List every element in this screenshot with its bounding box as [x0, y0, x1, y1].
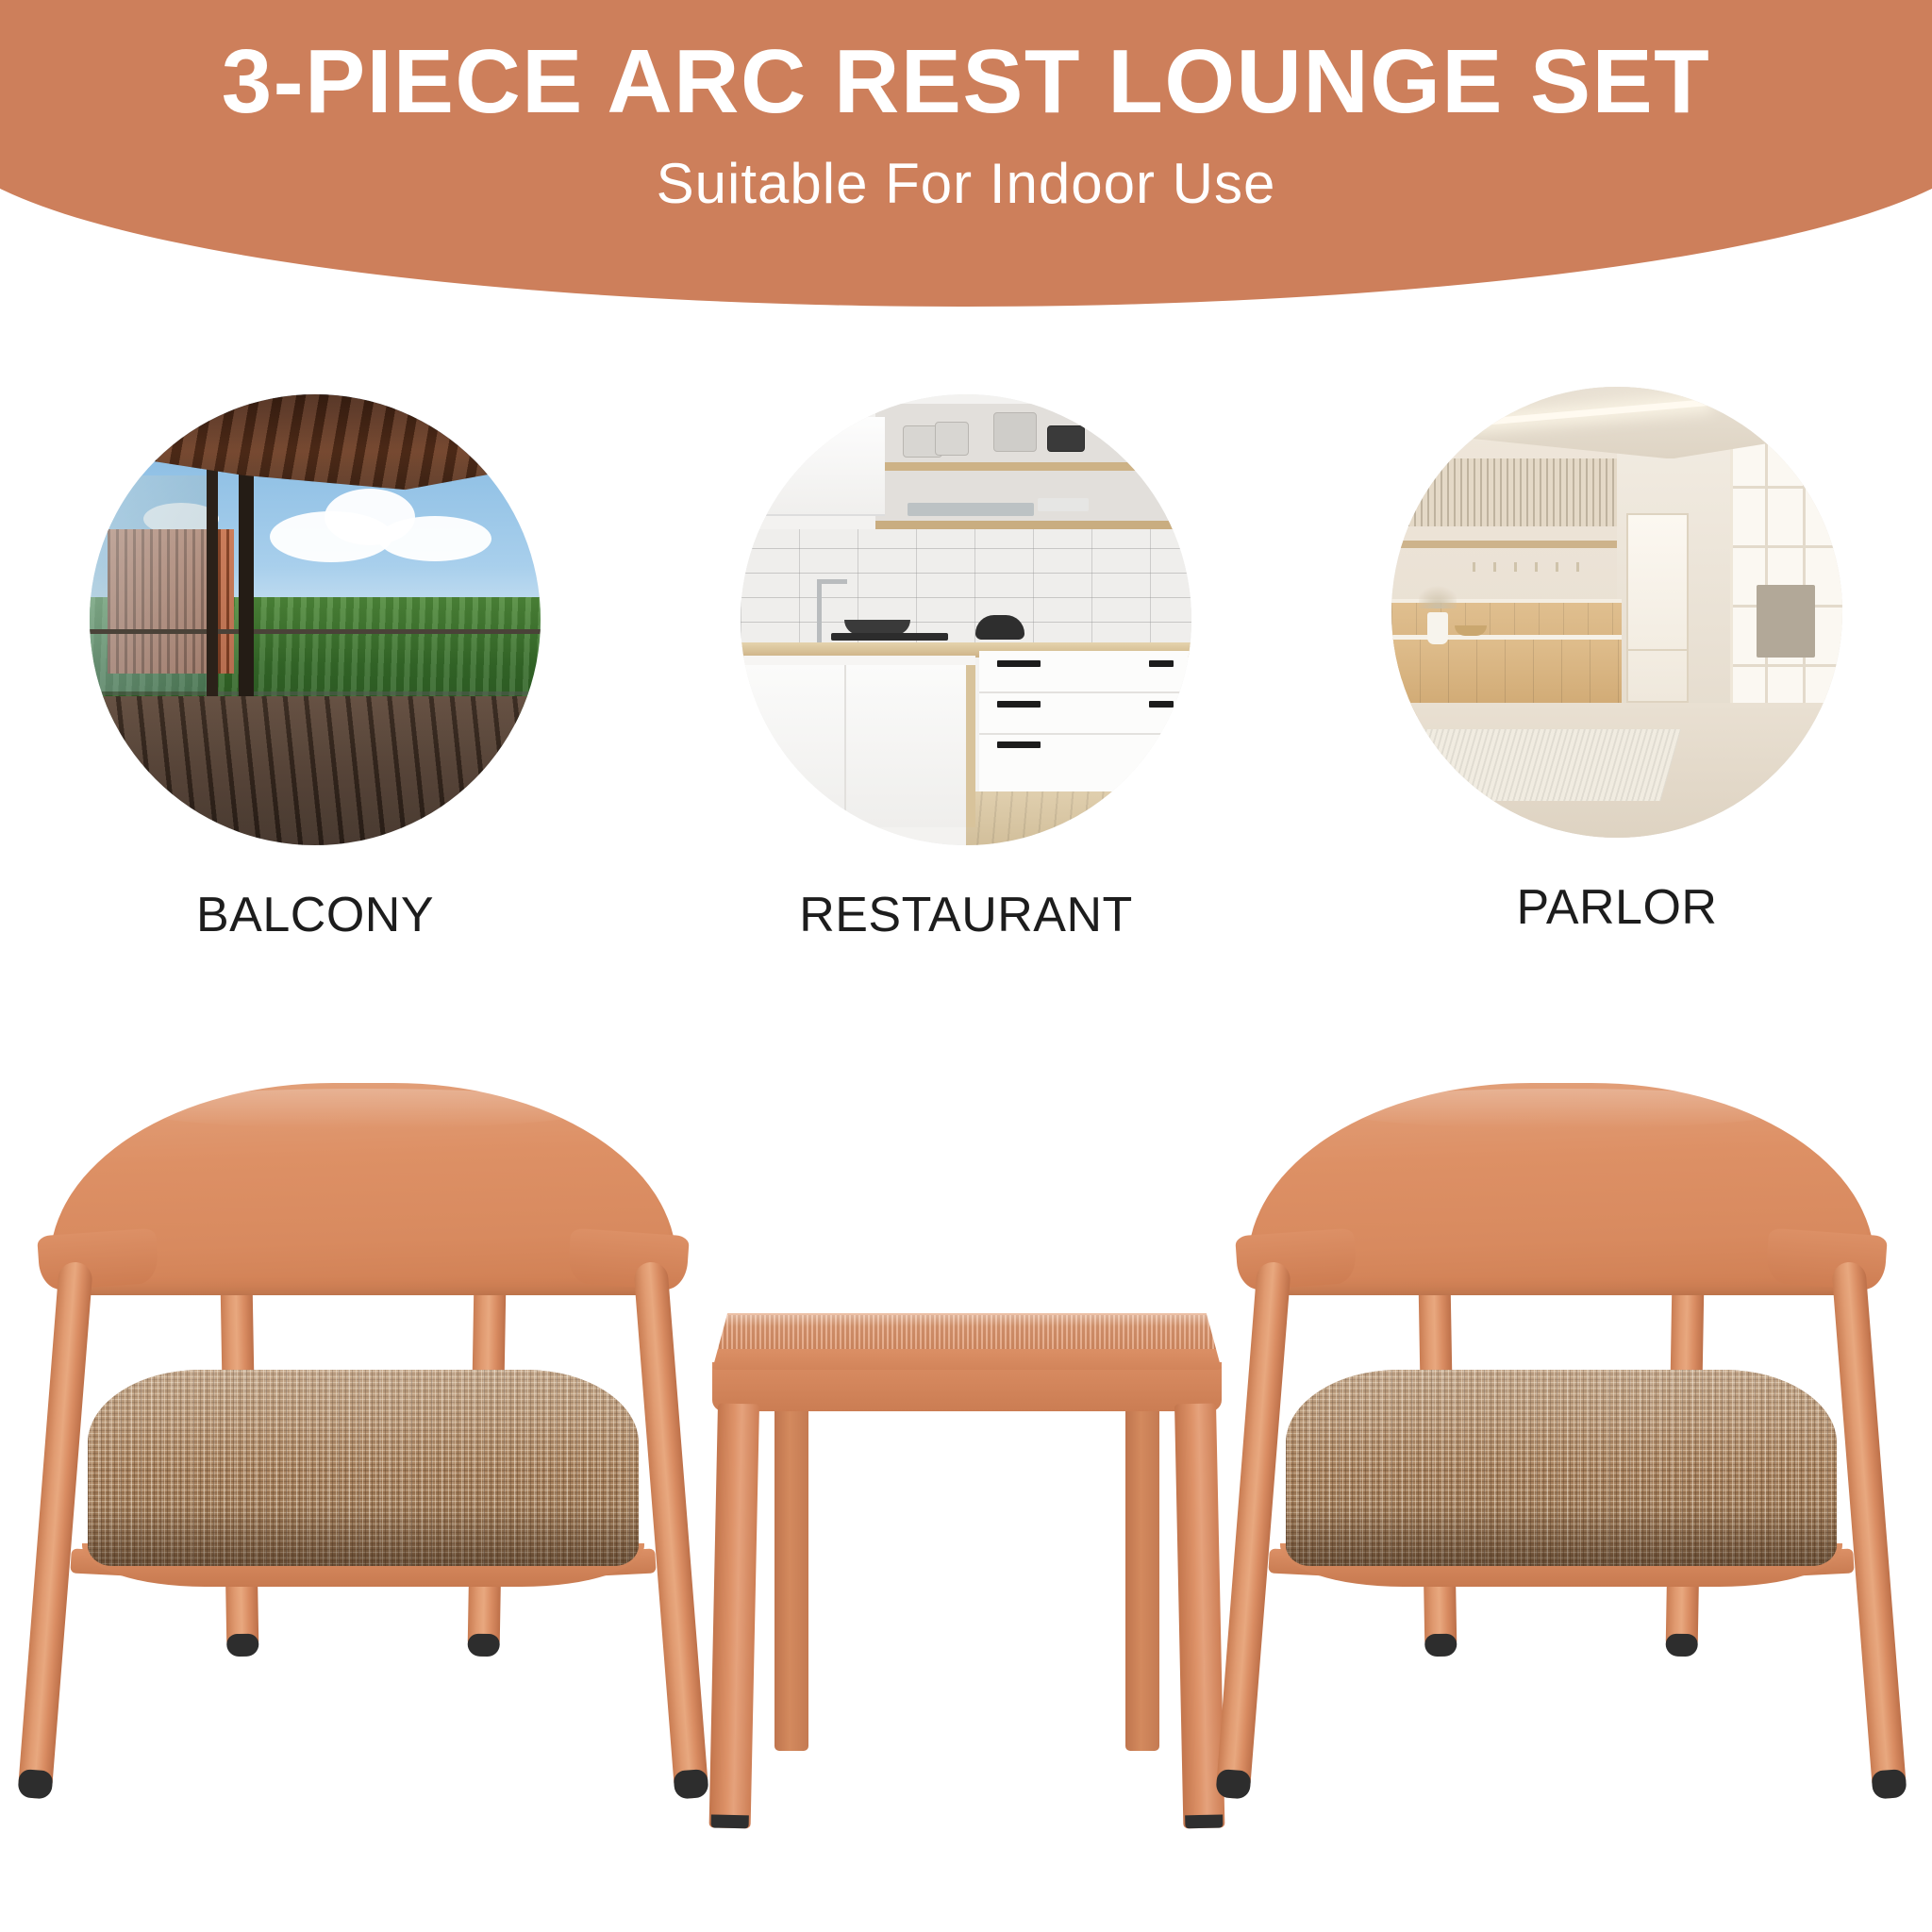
kitchen-plate-stack: [948, 503, 993, 516]
parlor-tall-cabinet: [1626, 513, 1690, 703]
kitchen-jar: [935, 422, 969, 456]
balcony-wood-deck: [90, 696, 541, 845]
kitchen-base-cabinet: [741, 665, 975, 827]
parlor-shelving-unit: [1730, 432, 1843, 729]
scene-restaurant: RESTAURANT: [740, 394, 1192, 943]
kitchen-faucet-spout: [817, 579, 847, 584]
kitchen-kettle: [975, 615, 1024, 640]
kitchen-faucet: [817, 579, 822, 647]
header-banner: 3-PIECE ARC REST LOUNGE SET Suitable For…: [0, 0, 1932, 307]
chair-front-left-leg: [17, 1261, 93, 1800]
parlor-photo: [1391, 387, 1842, 838]
chair-front-right-leg: [633, 1261, 709, 1800]
cushion-shadow: [88, 1507, 639, 1566]
cushion-shadow: [1286, 1507, 1837, 1566]
balcony-window-mullion: [207, 430, 218, 709]
page-subtitle: Suitable For Indoor Use: [657, 151, 1276, 216]
foot-cap: [1665, 1634, 1697, 1657]
chair-front-right-leg: [1831, 1261, 1907, 1800]
kitchen-wood-shelf: [875, 521, 1191, 530]
scene-balcony: BALCONY: [89, 394, 541, 943]
chair-right-armrest: [1765, 1228, 1888, 1291]
foot-cap: [673, 1769, 708, 1800]
balcony-railing: [90, 629, 541, 634]
kitchen-plate-stack: [908, 503, 953, 516]
kitchen-drawer-handle: [997, 701, 1041, 708]
kitchen-cooktop: [831, 633, 948, 641]
kitchen-utensil-holder: [993, 412, 1037, 452]
table-top: [712, 1313, 1222, 1370]
chair-right-armrest: [567, 1228, 690, 1291]
parlor-monitor: [1757, 585, 1815, 657]
balcony-glass-pane: [90, 475, 207, 691]
foot-cap: [711, 1814, 749, 1828]
cushion-highlight: [1286, 1370, 1837, 1472]
cloud-icon: [378, 516, 491, 561]
foot-cap: [1215, 1769, 1251, 1800]
scene-label-balcony: BALCONY: [196, 887, 434, 943]
parlor-dried-plant: [1419, 576, 1457, 608]
chair-left-armrest: [1235, 1228, 1357, 1291]
kitchen-upper-cabinet: [741, 417, 885, 516]
table-rear-left-leg: [774, 1400, 808, 1751]
kitchen-drawer-handle: [997, 741, 1041, 748]
scene-label-parlor: PARLOR: [1517, 879, 1718, 936]
kitchen-subway-tile: [741, 529, 1191, 646]
balcony-railing-lower: [90, 691, 541, 695]
restaurant-photo: [741, 394, 1191, 845]
page-title: 3-PIECE ARC REST LOUNGE SET: [222, 34, 1710, 130]
foot-cap: [17, 1769, 53, 1800]
infographic-page: 3-PIECE ARC REST LOUNGE SET Suitable For…: [0, 0, 1932, 1932]
kitchen-drawer-handle: [997, 660, 1041, 667]
scene-parlor: PARLOR: [1391, 394, 1843, 936]
foot-cap: [1185, 1814, 1223, 1828]
parlor-wall-hooks: [1473, 562, 1590, 572]
kitchen-wood-shelf: [875, 462, 1191, 471]
side-table-center: [712, 1313, 1222, 1828]
scene-label-restaurant: RESTAURANT: [799, 887, 1133, 943]
table-front-left-leg: [709, 1404, 759, 1829]
chair-cushion: [88, 1370, 639, 1566]
parlor-rug: [1399, 729, 1681, 801]
parlor-vase: [1427, 612, 1448, 644]
parlor-wall-shelf: [1396, 541, 1617, 548]
kitchen-drawer-handle: [1149, 701, 1174, 708]
kitchen-drawer-handle: [1149, 660, 1174, 667]
chair-left-armrest: [37, 1228, 159, 1291]
balcony-photo: [90, 394, 541, 845]
table-top-highlight: [712, 1313, 1222, 1326]
foot-cap: [1424, 1634, 1457, 1657]
kitchen-plate-stack: [1038, 498, 1089, 511]
foot-cap: [1871, 1769, 1907, 1800]
kitchen-drawer-divider: [979, 733, 1191, 735]
chair-cushion: [1286, 1370, 1837, 1566]
chair-front-left-leg: [1215, 1261, 1291, 1800]
kitchen-drawer-unit: [979, 651, 1191, 791]
foot-cap: [467, 1634, 499, 1657]
lounge-chair-right: [1231, 1066, 1891, 1821]
header-banner-content: 3-PIECE ARC REST LOUNGE SET Suitable For…: [0, 0, 1932, 307]
kitchen-plate-stack: [989, 503, 1034, 516]
kitchen-wood-floor: [966, 791, 1191, 845]
foot-cap: [226, 1634, 258, 1657]
table-rear-right-leg: [1125, 1400, 1159, 1751]
kitchen-drawer-divider: [979, 691, 1191, 693]
kitchen-pot: [1047, 425, 1085, 452]
product-showcase: [0, 1066, 1932, 1821]
parlor-slat-panel: [1401, 458, 1617, 526]
scene-gallery: BALCONY: [0, 394, 1932, 753]
lounge-chair-left: [33, 1066, 693, 1821]
cushion-highlight: [88, 1370, 639, 1472]
